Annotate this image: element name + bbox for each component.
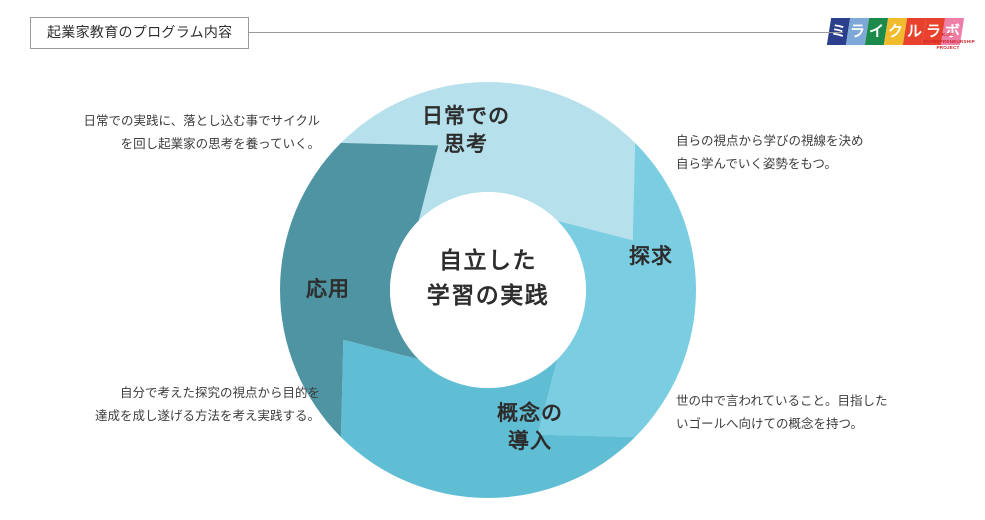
note-concept-introduction: 世の中で言われていること。目指した いゴールへ向けての概念を持つ。 [676,390,926,436]
title-rule [228,32,843,33]
note-inquiry: 自らの視点から学びの視線を決め 自ら学んでいく姿勢をもつ。 [676,130,926,176]
segment-label-daily-thinking: 日常での 思考 [396,103,536,158]
note-daily-thinking: 日常での実践に、落とし込む事でサイクル を回し起業家の思考を養っていく。 [62,110,320,156]
page-title: 起業家教育のプログラム内容 [30,17,249,49]
segment-label-concept-introduction: 概念の 導入 [460,400,600,455]
segment-label-inquiry: 探求 [596,243,706,271]
diagram-center-label: 自立した 学習の実践 [390,243,586,313]
cycle-diagram: 日常での 思考 探求 概念の 導入 応用 自立した 学習の実践 日常での実践に、… [0,0,985,520]
note-application: 自分で考えた探究の視点から目的を 達成を成し遂げる方法を考え実践する。 [62,382,320,428]
segment-label-application: 応用 [273,276,383,304]
